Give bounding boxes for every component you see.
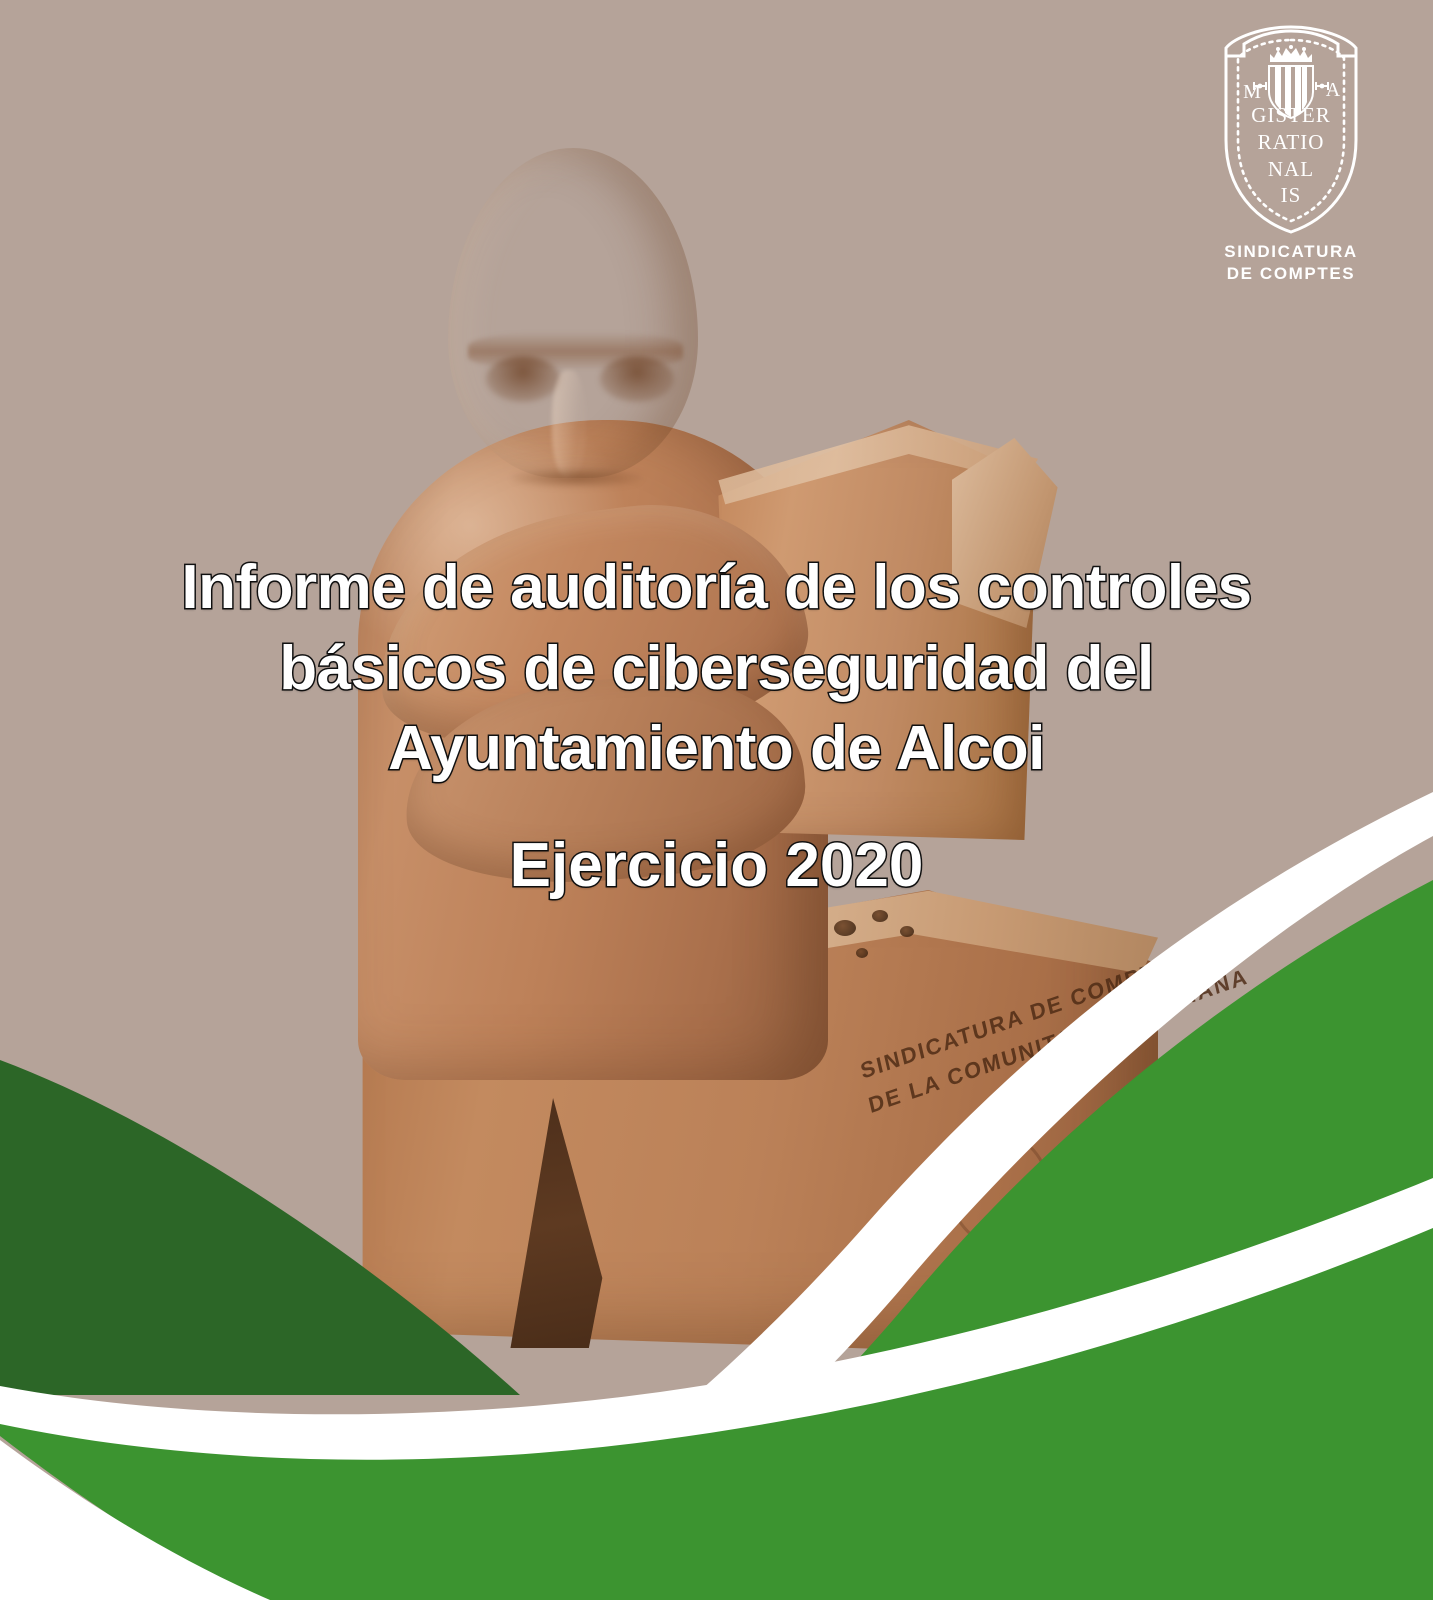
svg-text:RATIO: RATIO (1258, 130, 1325, 154)
logo-wordmark-line-1: SINDICATURA (1191, 241, 1391, 263)
logo-wordmark: SINDICATURA DE COMPTES (1191, 241, 1391, 285)
svg-text:NAL: NAL (1268, 157, 1314, 181)
sindicatura-de-comptes-logo: M A GISTER RATIO NAL IS SINDICATURA DE C… (1191, 22, 1391, 285)
svg-text:A: A (1326, 79, 1341, 101)
wave-dark-green (0, 1060, 520, 1395)
report-cover-page: SINDICATURA DE COMPTES DE LA COMUNITAT V… (0, 0, 1433, 1600)
svg-text:M: M (1243, 81, 1261, 103)
shield-icon: M A GISTER RATIO NAL IS (1216, 22, 1366, 237)
svg-text:IS: IS (1281, 183, 1302, 207)
svg-text:GISTER: GISTER (1251, 103, 1331, 127)
logo-wordmark-line-2: DE COMPTES (1191, 263, 1391, 285)
